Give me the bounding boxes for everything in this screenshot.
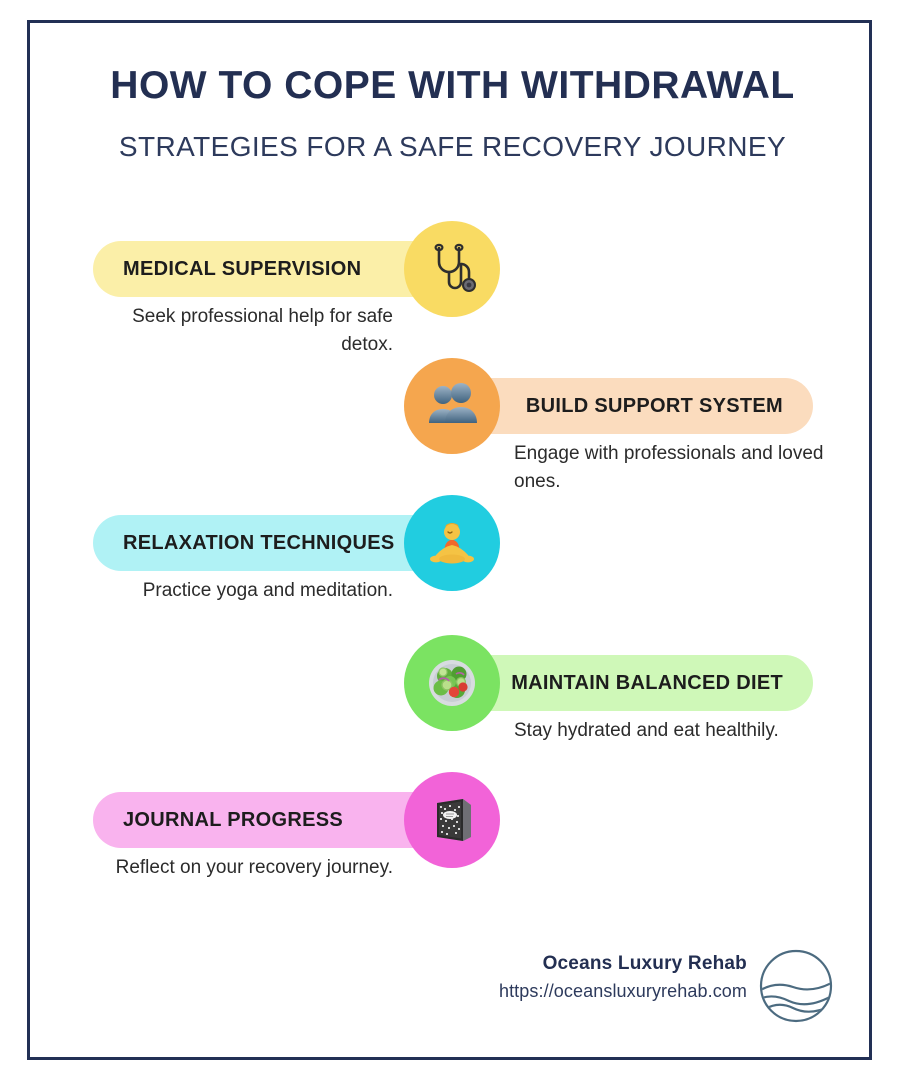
step-description: Engage with professionals and loved ones… — [514, 440, 834, 495]
step-label: MEDICAL SUPERVISION — [123, 258, 361, 281]
step-description: Reflect on your recovery journey. — [93, 854, 393, 882]
ocean-wave-circle-logo — [757, 947, 835, 1025]
step-icon-circle — [404, 221, 500, 317]
step-icon-circle — [404, 772, 500, 868]
brand-name: Oceans Luxury Rehab — [499, 951, 747, 978]
steps-list: MEDICAL SUPERVISION — [30, 23, 875, 1063]
infographic-poster: HOW TO COPE WITH WITHDRAWAL STRATEGIES F… — [0, 0, 900, 1080]
step-label: MAINTAIN BALANCED DIET — [511, 672, 783, 695]
step-item: JOURNAL PROGRESS — [30, 770, 875, 910]
lotus-meditation-icon — [424, 515, 480, 571]
step-description: Stay hydrated and eat healthily. — [514, 717, 834, 745]
step-item: MEDICAL SUPERVISION — [30, 219, 875, 359]
step-icon-circle — [404, 358, 500, 454]
salad-bowl-icon — [423, 654, 481, 712]
footer-text-block: Oceans Luxury Rehab https://oceansluxury… — [499, 951, 747, 1005]
poster-frame: HOW TO COPE WITH WITHDRAWAL STRATEGIES F… — [27, 20, 872, 1060]
step-description: Seek professional help for safe detox. — [93, 303, 393, 358]
step-icon-circle — [404, 635, 500, 731]
step-item: MAINTAIN BALANCED DIET — [30, 633, 875, 773]
step-label: JOURNAL PROGRESS — [123, 809, 343, 832]
step-description: Practice yoga and meditation. — [93, 577, 393, 605]
step-icon-circle — [404, 495, 500, 591]
step-item: RELAXATION TECHNIQUES — [30, 493, 875, 633]
two-people-icon — [423, 377, 481, 435]
step-label: BUILD SUPPORT SYSTEM — [526, 395, 783, 418]
poster-footer: Oceans Luxury Rehab https://oceansluxury… — [30, 947, 875, 1029]
notebook-icon — [425, 793, 479, 847]
brand-url[interactable]: https://oceansluxuryrehab.com — [499, 978, 747, 1005]
step-label: RELAXATION TECHNIQUES — [123, 532, 395, 555]
stethoscope-icon — [423, 240, 481, 298]
step-item: BUILD SUPPORT SYSTEM — [30, 356, 875, 496]
